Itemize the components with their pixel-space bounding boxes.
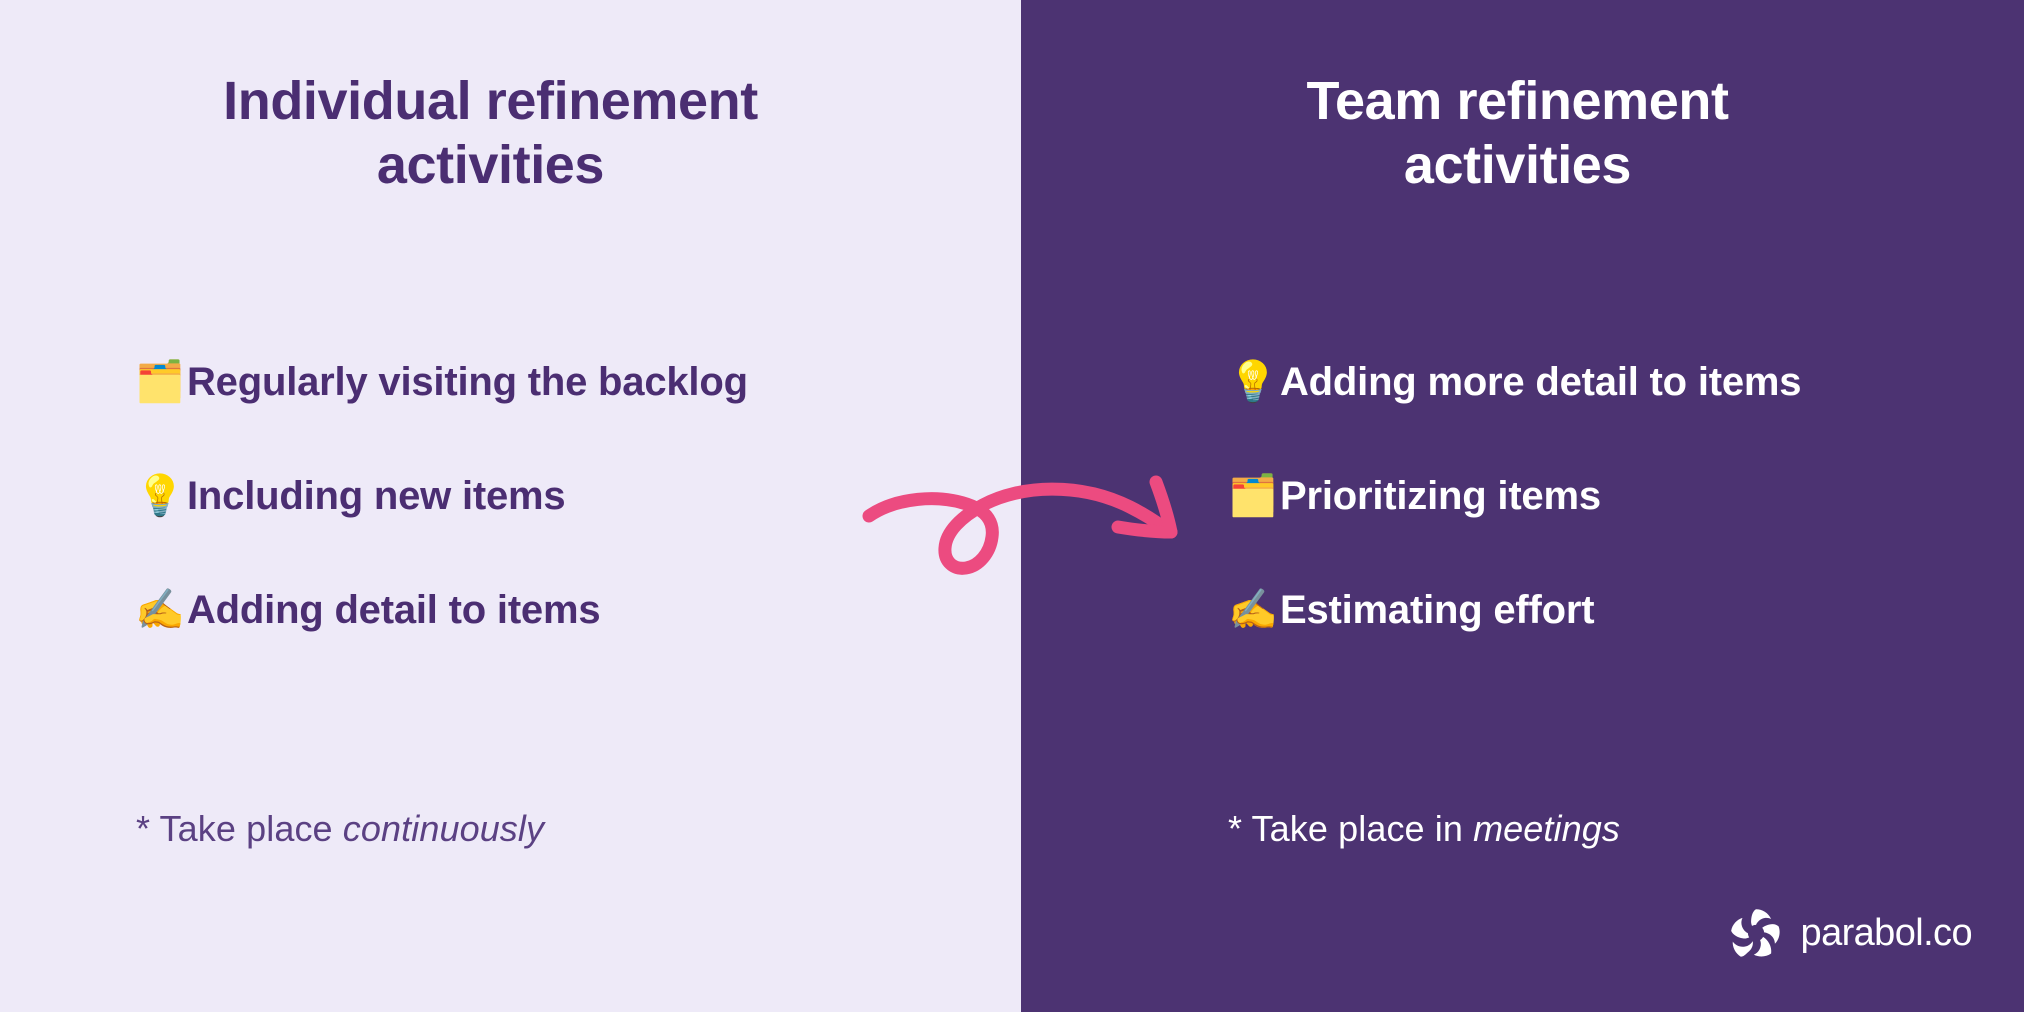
individual-activity-list: 🗂️ Regularly visiting the backlog 💡 Incl…: [135, 345, 748, 687]
card-index-dividers-emoji: 🗂️: [1228, 476, 1280, 516]
parabol-wordmark: parabol.co: [1801, 912, 1972, 955]
footnote-emphasis: meetings: [1473, 808, 1620, 849]
activity-label: Estimating effort: [1280, 588, 1594, 633]
list-item: 🗂️ Prioritizing items: [1228, 459, 1801, 533]
activity-label: Adding detail to items: [187, 588, 600, 633]
team-refinement-panel: Team refinement activities 💡 Adding more…: [1021, 0, 2024, 1012]
list-item: 💡 Including new items: [135, 459, 748, 533]
infographic-canvas: Individual refinement activities 🗂️ Regu…: [0, 0, 2024, 1012]
list-item: ✍️ Adding detail to items: [135, 573, 748, 647]
writing-hand-emoji: ✍️: [135, 590, 187, 630]
team-panel-heading: Team refinement activities: [1021, 70, 2024, 197]
activity-label: Regularly visiting the backlog: [187, 360, 748, 405]
parabol-brand-logo: parabol.co: [1729, 906, 1972, 960]
card-index-dividers-emoji: 🗂️: [135, 362, 187, 402]
activity-label: Including new items: [187, 474, 565, 519]
individual-panel-heading: Individual refinement activities: [0, 70, 1021, 197]
light-bulb-emoji: 💡: [1228, 362, 1280, 402]
individual-panel-footnote: * Take place continuously: [136, 808, 544, 850]
activity-label: Adding more detail to items: [1280, 360, 1801, 405]
team-activity-list: 💡 Adding more detail to items 🗂️ Priorit…: [1228, 345, 1801, 687]
list-item: 🗂️ Regularly visiting the backlog: [135, 345, 748, 419]
footnote-prefix: * Take place: [136, 808, 343, 849]
individual-refinement-panel: Individual refinement activities 🗂️ Regu…: [0, 0, 1021, 1012]
team-panel-footnote: * Take place in meetings: [1228, 808, 1620, 850]
list-item: ✍️ Estimating effort: [1228, 573, 1801, 647]
list-item: 💡 Adding more detail to items: [1228, 345, 1801, 419]
footnote-prefix: * Take place in: [1228, 808, 1473, 849]
activity-label: Prioritizing items: [1280, 474, 1601, 519]
writing-hand-emoji: ✍️: [1228, 590, 1280, 630]
footnote-emphasis: continuously: [343, 808, 544, 849]
light-bulb-emoji: 💡: [135, 476, 187, 516]
parabol-pinwheel-logo-icon: [1729, 906, 1783, 960]
